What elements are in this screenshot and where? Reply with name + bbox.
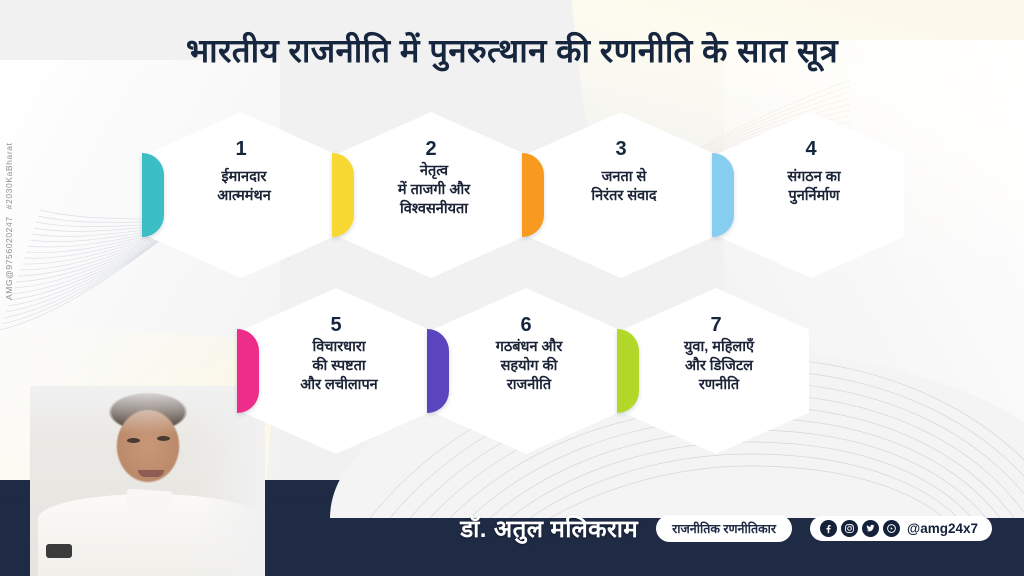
point-number-6: 6 xyxy=(433,314,619,337)
accent-bar-6 xyxy=(427,329,449,413)
point-number-3: 3 xyxy=(528,138,714,161)
point-number-5: 5 xyxy=(243,314,429,337)
hexagon-point-3[interactable]: 3 जनता से निरंतर संवाद xyxy=(528,112,714,278)
accent-bar-4 xyxy=(712,153,734,237)
point-caption-4: संगठन का पुनर्निर्माण xyxy=(732,168,896,206)
accent-bar-2 xyxy=(332,153,354,237)
point-caption-3: जनता से निरंतर संवाद xyxy=(542,168,706,206)
role-badge-label: राजनीतिक रणनीतिकार xyxy=(672,520,776,537)
page-title: भारतीय राजनीति में पुनरुत्थान की रणनीति … xyxy=(0,32,1024,71)
accent-bar-7 xyxy=(617,329,639,413)
watermark: AMG@9756020247#2030KaBharat xyxy=(4,135,14,300)
point-number-7: 7 xyxy=(623,314,809,337)
point-number-4: 4 xyxy=(718,138,904,161)
point-caption-7: युवा, महिलाएँ और डिजिटल रणनीति xyxy=(637,338,801,395)
social-handle[interactable]: @amg24x7 xyxy=(907,521,978,536)
hexagon-point-5[interactable]: 5 विचारधारा की स्पष्टता और लचीलापन xyxy=(243,288,429,454)
twitter-icon[interactable] xyxy=(862,520,879,537)
point-number-1: 1 xyxy=(148,138,334,161)
infographic-canvas: भारतीय राजनीति में पुनरुत्थान की रणनीति … xyxy=(0,0,1024,576)
hexagon-point-7[interactable]: 7 युवा, महिलाएँ और डिजिटल रणनीति xyxy=(623,288,809,454)
point-caption-5: विचारधारा की स्पष्टता और लचीलापन xyxy=(257,338,421,395)
point-caption-2: नेतृत्व में ताजगी और विश्वसनीयता xyxy=(352,162,516,219)
footer-content: डॉ. अतुल मलिकराम राजनीतिक रणनीतिकार xyxy=(0,480,1024,576)
accent-bar-1 xyxy=(142,153,164,237)
hexagon-point-2[interactable]: 2 नेतृत्व में ताजगी और विश्वसनीयता xyxy=(338,112,524,278)
watermark-hashtag: #2030KaBharat xyxy=(4,142,14,209)
hexagon-point-1[interactable]: 1 ईमानदार आत्ममंथन xyxy=(148,112,334,278)
hexagon-point-6[interactable]: 6 गठबंधन और सहयोग की राजनीति xyxy=(433,288,619,454)
instagram-icon[interactable] xyxy=(841,520,858,537)
watermark-contact: AMG@9756020247 xyxy=(4,216,14,300)
point-caption-6: गठबंधन और सहयोग की राजनीति xyxy=(447,338,611,395)
brand-name: डॉ. अतुल मलिकराम xyxy=(460,512,638,545)
youtube-icon[interactable] xyxy=(883,520,900,537)
point-caption-1: ईमानदार आत्ममंथन xyxy=(162,168,326,206)
hexagon-point-4[interactable]: 4 संगठन का पुनर्निर्माण xyxy=(718,112,904,278)
facebook-icon[interactable] xyxy=(820,520,837,537)
social-badge[interactable]: @amg24x7 xyxy=(810,516,992,541)
accent-bar-5 xyxy=(237,329,259,413)
accent-bar-3 xyxy=(522,153,544,237)
point-number-2: 2 xyxy=(338,138,524,161)
role-badge: राजनीतिक रणनीतिकार xyxy=(656,515,792,542)
